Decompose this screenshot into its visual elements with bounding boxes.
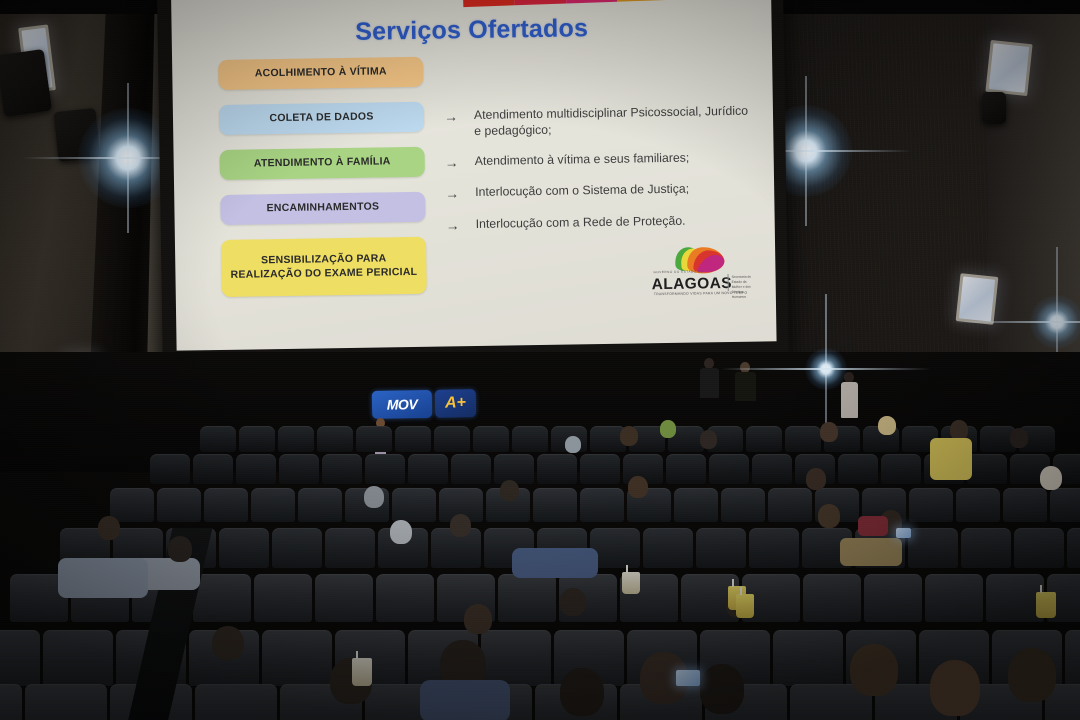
projection-screen: Serviços Ofertados ACOLHIMENTO À VÍTIMA … <box>171 0 776 351</box>
camera-crew <box>700 358 720 400</box>
audience-member-torso <box>420 680 510 720</box>
audience-member <box>850 644 898 696</box>
glowing-phone-screen <box>896 528 911 538</box>
presentation-slide: Serviços Ofertados ACOLHIMENTO À VÍTIMA … <box>171 0 776 351</box>
drink-cup <box>1036 592 1056 618</box>
audience-member <box>565 436 581 453</box>
audience-member <box>212 626 244 660</box>
audience-member <box>1008 648 1056 702</box>
bullet-item: → Interlocução com o Sistema de Justiça; <box>445 180 755 203</box>
chip-acolhimento-a-vitima: ACOLHIMENTO À VÍTIMA <box>218 57 423 90</box>
logo-secondary-text: Secretaria de Estado da Mulher e dos Dir… <box>732 275 752 300</box>
audience-member-yellow-shirt <box>930 438 972 480</box>
audience-seating <box>0 408 1080 720</box>
audience-member <box>700 430 717 449</box>
arrow-icon: → <box>444 107 474 126</box>
audience-member <box>700 664 744 714</box>
glowing-phone-screen <box>676 670 700 686</box>
cinema-auditorium-photo: Serviços Ofertados ACOLHIMENTO À VÍTIMA … <box>0 0 1080 720</box>
audience-member <box>560 668 604 716</box>
bullet-item: → Atendimento multidisciplinar Psicossoc… <box>444 103 754 141</box>
audience-member <box>878 416 896 435</box>
audience-member <box>560 588 586 616</box>
audience-member <box>950 420 968 440</box>
chip-label: ACOLHIMENTO À VÍTIMA <box>255 66 387 82</box>
camera-crew <box>735 362 757 402</box>
arrow-icon: → <box>445 153 475 172</box>
chip-encaminhamentos: ENCAMINHAMENTOS <box>220 192 425 225</box>
audience-member <box>450 514 471 537</box>
audience-member-grey-shirt <box>58 558 148 598</box>
audience-member <box>628 476 648 498</box>
wall-light-panel <box>985 40 1032 96</box>
audience-member <box>660 420 676 438</box>
audience-member <box>818 504 840 528</box>
bullet-text: Atendimento à vítima e seus familiares; <box>475 149 690 169</box>
bullet-item: → Interlocução com a Rede de Proteção. <box>446 211 756 234</box>
audience-member <box>500 480 519 501</box>
seat-row <box>110 488 1080 522</box>
audience-member <box>464 604 492 634</box>
audience-member <box>98 516 120 540</box>
wall-light-panel <box>956 273 999 325</box>
chip-label: ENCAMINHAMENTOS <box>267 201 380 216</box>
audience-member <box>1040 466 1062 490</box>
drink-cup <box>736 594 754 618</box>
audience-member-red-item <box>858 516 888 536</box>
chip-label: COLETA DE DADOS <box>269 111 373 126</box>
slide-bullet-list: → Atendimento multidisciplinar Psicossoc… <box>444 103 756 248</box>
audience-member <box>930 660 980 716</box>
audience-member <box>820 422 838 442</box>
projection-screen-frame: Serviços Ofertados ACOLHIMENTO À VÍTIMA … <box>157 0 789 371</box>
drink-cup <box>622 572 640 594</box>
wall-speaker <box>0 49 52 117</box>
bullet-text: Interlocução com o Sistema de Justiça; <box>475 181 689 201</box>
bullet-text: Atendimento multidisciplinar Psicossocia… <box>474 103 754 140</box>
service-chip-list: ACOLHIMENTO À VÍTIMA COLETA DE DADOS ATE… <box>218 57 427 312</box>
chip-label: ATENDIMENTO À FAMÍLIA <box>254 156 391 172</box>
slide-top-color-bar <box>463 0 771 7</box>
wall-speaker <box>54 108 101 162</box>
chip-sensibilizacao-exame-pericial: SENSIBILIZAÇÃO PARA REALIZAÇÃO DO EXAME … <box>221 237 427 297</box>
chip-atendimento-a-familia: ATENDIMENTO À FAMÍLIA <box>219 147 424 180</box>
crew-torso <box>735 372 756 401</box>
arrow-icon: → <box>445 184 475 203</box>
arrow-icon: → <box>446 216 476 235</box>
audience-member <box>364 486 384 508</box>
bullet-text: Interlocução com a Rede de Proteção. <box>476 213 686 233</box>
audience-member <box>168 536 192 562</box>
audience-member <box>620 426 638 446</box>
wall-speaker <box>982 92 1006 124</box>
audience-member-jeans <box>512 548 598 578</box>
crew-torso <box>700 368 719 398</box>
chip-label: SENSIBILIZAÇÃO PARA REALIZAÇÃO DO EXAME … <box>227 252 420 282</box>
audience-member-tan-shirt <box>840 538 902 566</box>
chip-coleta-de-dados: COLETA DE DADOS <box>219 102 424 135</box>
audience-member <box>1010 428 1028 448</box>
drink-cup <box>352 658 372 686</box>
audience-member <box>390 520 412 544</box>
alagoas-logo: GOVERNO DO ESTADO DE ALAGOAS TRANSFORMAN… <box>651 242 748 306</box>
audience-member <box>806 468 826 490</box>
slide-title: Serviços Ofertados <box>171 11 771 49</box>
logo-tagline-top: GOVERNO DO ESTADO DE <box>653 269 703 274</box>
bullet-item: → Atendimento à vítima e seus familiares… <box>445 148 755 171</box>
